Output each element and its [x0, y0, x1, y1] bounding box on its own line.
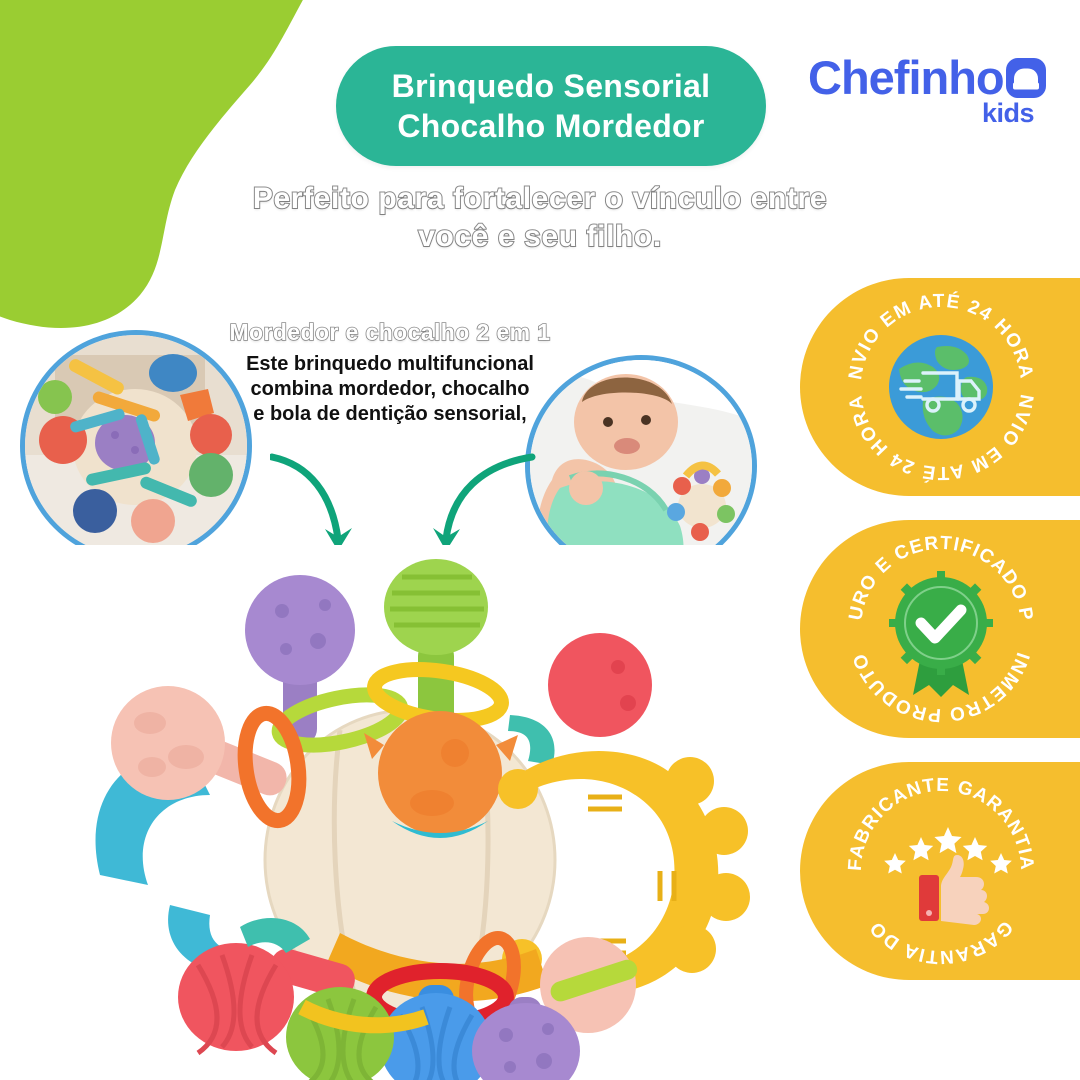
- badge-warranty: FABRICANTE GARANTIA GARANTIA DO: [800, 762, 1080, 980]
- badge-certified: SEGURO E CERTIFICADO PELO INMETRO PRODUT…: [800, 520, 1080, 738]
- feature-body-line-1: Este brinquedo multifuncional: [235, 352, 545, 377]
- brand-logo: Chefinho kids: [808, 52, 1048, 140]
- baby-with-toy-photo: [525, 355, 757, 577]
- brand-name: Chefinho: [808, 52, 1048, 104]
- title-line-1: Brinquedo Sensorial: [392, 66, 711, 106]
- feature-body: Este brinquedo multifuncional combina mo…: [235, 352, 545, 427]
- rating-stars: [884, 827, 1012, 874]
- brand-name-text: Chefinho: [808, 52, 1004, 104]
- product-infographic: Brinquedo Sensorial Chocalho Mordedor Ch…: [0, 0, 1080, 1080]
- subtitle-line-2: você e seu filho.: [200, 218, 880, 256]
- feature-heading: Mordedor e chocalho 2 em 1: [195, 318, 585, 346]
- badge-shipping: ENVIO EM ATÉ 24 HORAS ENVIO EM ATÉ 24 HO…: [800, 278, 1080, 496]
- hero-product-photo: [40, 545, 760, 1080]
- subtitle: Perfeito para fortalecer o vínculo entre…: [200, 180, 880, 256]
- globe-truck-icon: [883, 329, 999, 445]
- chef-hat-icon: [1006, 58, 1046, 98]
- feature-body-line-3: e bola de dentição sensorial,: [235, 402, 545, 427]
- title-line-2: Chocalho Mordedor: [397, 106, 704, 146]
- subtitle-line-1: Perfeito para fortalecer o vínculo entre: [200, 180, 880, 218]
- check-rosette-icon: [883, 571, 999, 687]
- thumbs-up-stars-icon: [883, 813, 999, 929]
- green-blob-decoration: [0, 0, 330, 350]
- title-banner: Brinquedo Sensorial Chocalho Mordedor: [336, 46, 766, 166]
- product-closeup-photo: [20, 330, 252, 562]
- feature-body-line-2: combina mordedor, chocalho: [235, 377, 545, 402]
